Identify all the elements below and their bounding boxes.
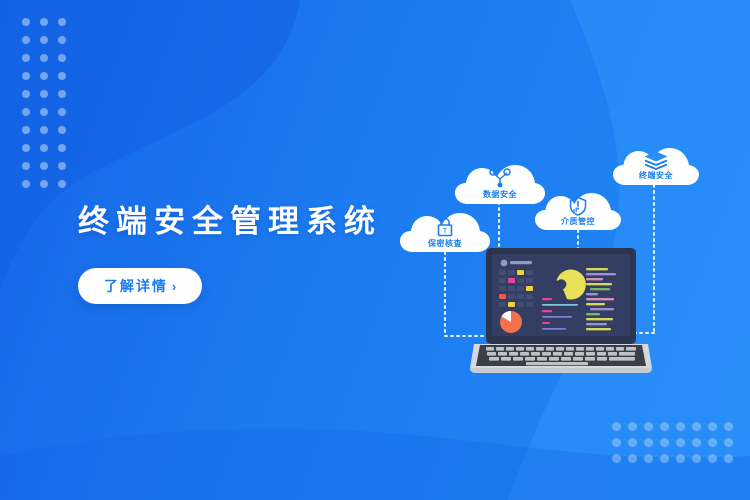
cloud-label-jiezhi: 介质管控 [561,216,595,227]
layers-stack-icon [643,150,669,171]
learn-more-label: 了解详情 [104,276,168,296]
laptop-device [470,248,652,380]
lock-icon: T [436,217,454,237]
chevron-right-icon: › [172,279,176,294]
shield-alert-icon [569,196,587,216]
page-title: 终端安全管理系统 [78,196,382,241]
network-nodes-icon [488,168,512,188]
cloud-label-baomi: 保密核查 [428,238,462,249]
cloud-label-shuju: 数据安全 [483,189,517,200]
svg-text:T: T [443,228,448,235]
cloud-jiezhi[interactable]: 介质管控 [535,188,621,232]
dot-grid-icon [22,18,76,198]
pie-chart-icon [500,311,522,333]
cloud-shuju[interactable]: 数据安全 [455,160,545,206]
learn-more-button[interactable]: 了解详情 › [78,268,202,304]
hero-banner: 终端安全管理系统 了解详情 › T [0,0,750,500]
cloud-label-zhongduan: 终端安全 [639,170,673,181]
dot-grid-icon [612,422,740,470]
cloud-zhongduan[interactable]: 终端安全 [613,143,699,187]
